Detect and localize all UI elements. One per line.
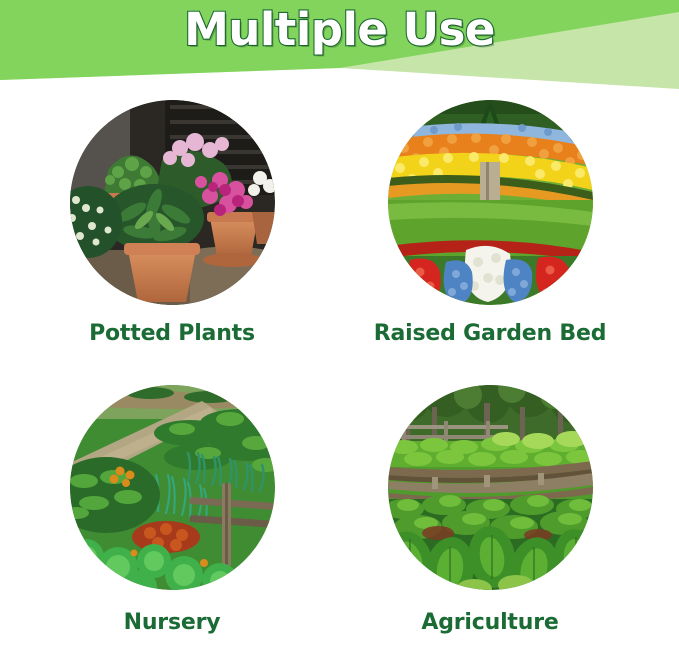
potted-plants-illustration	[70, 100, 275, 305]
raised-garden-bed-illustration	[388, 100, 593, 305]
use-case-label: Nursery	[12, 610, 332, 635]
page-title: Multiple Use	[0, 6, 679, 53]
use-case-label: Agriculture	[330, 610, 650, 635]
use-case-label: Potted Plants	[12, 321, 332, 346]
raised-garden-bed-photo	[388, 100, 593, 305]
use-case-agriculture[interactable]: Agriculture	[330, 385, 650, 635]
agriculture-illustration	[388, 385, 593, 590]
use-case-grid: Potted Plants	[0, 95, 679, 650]
use-case-raised-garden-bed[interactable]: Raised Garden Bed	[330, 100, 650, 346]
header-banner: Multiple Use	[0, 0, 679, 95]
use-case-potted-plants[interactable]: Potted Plants	[12, 100, 332, 346]
nursery-photo	[70, 385, 275, 590]
use-case-label: Raised Garden Bed	[330, 321, 650, 346]
multiple-use-infographic: Multiple Use	[0, 0, 679, 650]
potted-plants-photo	[70, 100, 275, 305]
use-case-nursery[interactable]: Nursery	[12, 385, 332, 635]
agriculture-photo	[388, 385, 593, 590]
nursery-illustration	[70, 385, 275, 590]
